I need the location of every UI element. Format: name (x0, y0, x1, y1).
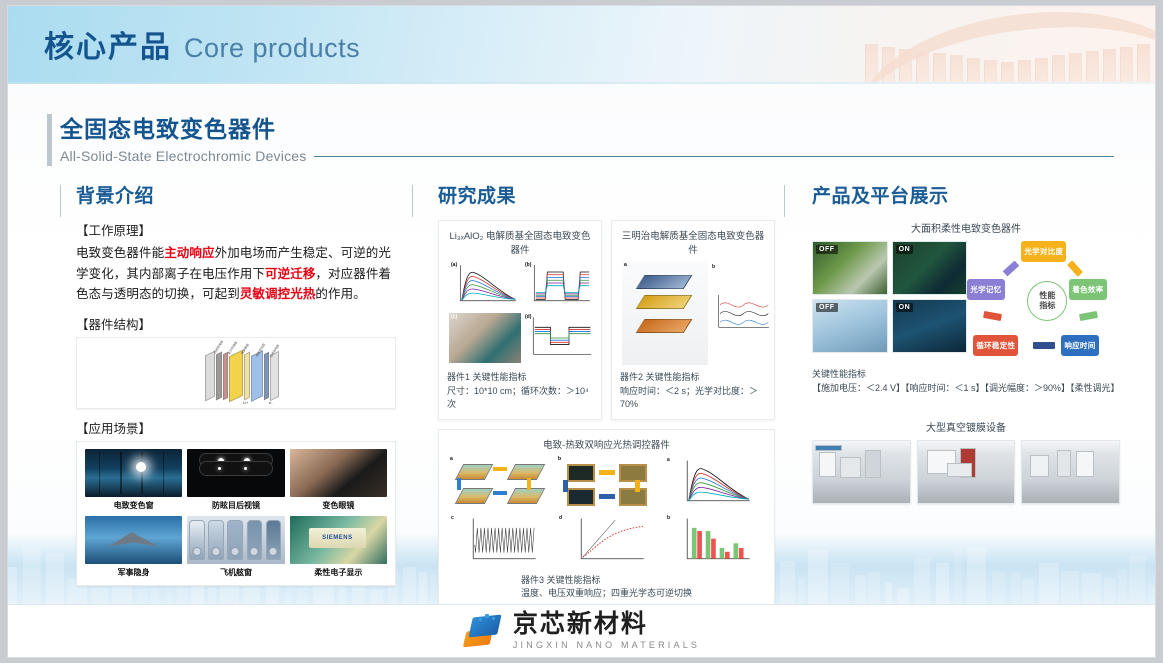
figure-subpanel-label: b (712, 264, 715, 270)
figure-subpanel-label: (b) (525, 262, 531, 268)
app-scenario-cell: 电致变色窗 (85, 449, 182, 511)
result-panel-3-title: 电致-热致双响应光热调控器件 (447, 437, 766, 451)
diagram-node-2: 光学记忆 (967, 279, 1004, 300)
result-panel-1-figure: (a)(b)(c)(d) (447, 261, 593, 365)
page-title: 核心产品 Core products (44, 22, 360, 66)
page-title-en: Core products (184, 33, 360, 64)
flex-display-card: SIEMENS (309, 528, 365, 547)
state-transition-arrow (599, 494, 615, 499)
equipment-machine (1076, 451, 1093, 477)
device-layer (244, 351, 250, 400)
state-node (507, 488, 546, 504)
mirror-thumb (187, 449, 284, 497)
column-title-background: 背景介绍 (60, 181, 412, 208)
principle-text-4: 的作用。 (315, 287, 365, 301)
window-mullion (141, 452, 143, 494)
state-transition-arrow (635, 480, 640, 492)
porthole-shade (189, 520, 205, 560)
device-photo-state (567, 464, 595, 482)
flexible-display-thumb: SIEMENS (290, 516, 387, 564)
onoff-photo-grid: OFF ON OFF ON (812, 241, 967, 353)
results-top-row: Li₃ₓAlO₂ 电解质基全固态电致变色器件 (a)(b)(c)(d) 器件1 … (438, 220, 784, 420)
device-layer (251, 350, 263, 402)
device-layer (216, 351, 222, 400)
onoff-tag-1: OFF (816, 245, 838, 254)
app-scenario-cell: 防眩目后视镜 (187, 449, 284, 511)
slide-canvas: 核心产品 Core products 全固态电致变色器件 All-Solid-S… (8, 6, 1155, 657)
app-scenario-caption: 电致变色窗 (85, 500, 182, 511)
app-scenario-cell: 飞机舷窗 (187, 516, 284, 578)
diagram-arrow-3 (1079, 311, 1098, 321)
result-panel-1-kpi-text: 尺寸：10*10 cm；循环次数：＞10⁴次 (447, 385, 593, 412)
equipment-machine (819, 452, 836, 477)
principle-highlight-2: 可逆迁移 (265, 267, 315, 281)
page-title-cn: 核心产品 (44, 22, 172, 66)
figure-subpanel: a (665, 456, 765, 510)
principle-highlight-3: 灵敏调控光热 (240, 287, 316, 301)
result-panel-2-kpi-text: 响应时间：＜2 s；光学对比度：＞70% (620, 385, 766, 412)
equipment-machine (840, 457, 861, 478)
result-panel-2: 三明治电解质基全固态电致变色器件 ab 器件2 关键性能指标 响应时间：＜2 s… (611, 220, 775, 420)
watermark-building (370, 590, 383, 605)
window-mullion (120, 452, 122, 494)
result-panel-1-title: Li₃ₓAlO₂ 电解质基全固态电致变色器件 (447, 228, 593, 256)
equipment-machine (1057, 450, 1071, 477)
onoff-tag-4: ON (896, 303, 914, 312)
figure-subpanel-label: a (450, 456, 453, 462)
equipment-photo-3 (1021, 440, 1120, 504)
state-transition-arrow (493, 491, 507, 495)
app-scenario-caption: 柔性电子显示 (290, 567, 387, 578)
device-photo-state (619, 488, 647, 506)
app-scenario-cell: 军事隐身 (85, 516, 182, 578)
device-photo-cycle: b (557, 456, 661, 512)
onoff-photo-3: OFF (812, 299, 888, 353)
porthole-shade (247, 520, 263, 560)
principle-label: 【工作原理】 (76, 220, 396, 239)
equipment-photo-2 (917, 440, 1016, 504)
watermark-building (8, 567, 17, 605)
schematic-layer (636, 295, 693, 309)
brand-name-en: JINGXIN NANO MATERIALS (513, 640, 700, 650)
result-panel-1-kpi: 器件1 关键性能指标 尺寸：10*10 cm；循环次数：＞10⁴次 (447, 371, 593, 412)
brand-name-cn: 京芯新材料 (513, 612, 700, 637)
onoff-photo-4: ON (892, 299, 968, 353)
window-sun (136, 462, 146, 472)
brand-text: 京芯新材料 JINGXIN NANO MATERIALS (513, 612, 700, 650)
app-scenario-cell: 变色眼镜 (290, 449, 387, 511)
schematic-layer (636, 319, 693, 333)
column-title-results: 研究成果 (438, 181, 784, 208)
device-stack-diagram: 透明导电层离子存储层电解质层电致变色层透明导电层Li+e- (205, 343, 345, 405)
principle-paragraph: 电致变色器件能主动响应外加电场而产生稳定、可逆的光学变化，其内部离子在电压作用下… (76, 243, 396, 305)
column-title-products: 产品及平台展示 (812, 181, 1120, 208)
device-structure-figure: 透明导电层离子存储层电解质层电致变色层透明导电层Li+e- (76, 337, 396, 409)
figure-subpanel-label: (d) (525, 314, 531, 320)
equipment-caption: 大型真空镀膜设备 (812, 419, 1120, 434)
result-panel-3-kpi-text: 温度、电压双重响应；四重光学态可逆切换 (521, 587, 692, 601)
figure-subpanel: c (449, 514, 553, 568)
diagram-arrow-5 (1033, 342, 1055, 349)
figure-subpanel: d (557, 514, 661, 568)
products-kpi-text: 【施加电压：＜2.4 V】【响应时间：＜1 s】【调光幅度：＞90%】【柔性调光… (812, 382, 1120, 396)
porthole-knob (193, 547, 202, 556)
device-layer (229, 349, 243, 402)
schematic-layer (636, 275, 693, 289)
structure-label: 【器件结构】 (76, 314, 396, 333)
porthole-knob (250, 547, 259, 556)
figure-subpanel-label: (a) (451, 262, 457, 268)
diagram-node-5: 响应时间 (1061, 335, 1098, 356)
figure-subpanel: (a) (449, 261, 521, 309)
porthole-shade (266, 520, 282, 560)
equipment-machine (815, 445, 842, 451)
state-transition-arrow (527, 478, 531, 490)
app-scenario-caption: 变色眼镜 (290, 500, 387, 511)
diagram-arrow-4 (983, 311, 1002, 321)
figure-subpanel: b (710, 263, 772, 363)
diagram-center-line2: 指标 (1039, 301, 1055, 311)
scenario-label: 【应用场景】 (76, 418, 396, 437)
section-heading: 全固态电致变色器件 All-Solid-State Electrochromic… (60, 110, 1114, 164)
result-panel-2-title: 三明治电解质基全固态电致变色器件 (620, 228, 766, 256)
diagram-node-1: 光学对比度 (1021, 241, 1066, 262)
apps-grid: 电致变色窗防眩目后视镜变色眼镜军事隐身飞机舷窗SIEMENS柔性电子显示 (85, 449, 387, 578)
diagram-center-line1: 性能 (1039, 291, 1055, 301)
application-scenarios-grid: 电致变色窗防眩目后视镜变色眼镜军事隐身飞机舷窗SIEMENS柔性电子显示 (76, 441, 396, 586)
window-thumb (85, 449, 182, 497)
porthole-knob (269, 547, 278, 556)
mirror-glare-dot (244, 467, 247, 470)
column-divider (784, 185, 785, 217)
figure-subpanel: (b) (523, 261, 595, 309)
state-transition-arrow (599, 470, 615, 475)
device-layer (264, 352, 269, 400)
result-panel-3-kpi: 器件3 关键性能指标 温度、电压双重响应；四重光学态可逆切换 (447, 574, 766, 601)
column-results: 研究成果 Li₃ₓAlO₂ 电解质基全固态电致变色器件 (a)(b)(c)(d)… (412, 181, 784, 591)
watermark-building (1149, 584, 1155, 605)
app-scenario-caption: 军事隐身 (85, 567, 182, 578)
onoff-tag-3: OFF (816, 303, 838, 312)
diagram-arrow-1 (1003, 261, 1020, 277)
result-panel-3-figure: abacdb (447, 456, 766, 568)
equipment-machine (947, 463, 972, 477)
footer-brand: 京芯新材料 JINGXIN NANO MATERIALS (8, 605, 1155, 657)
section-title-en: All-Solid-State Electrochromic Devices (60, 148, 1114, 164)
products-kpi: 关键性能指标 【施加电压：＜2.4 V】【响应时间：＜1 s】【调光幅度：＞90… (812, 368, 1120, 395)
device-photo-state (619, 464, 647, 482)
device-axis-label: Li+ (243, 400, 248, 405)
logo-pixel-2 (492, 617, 495, 620)
equipment-photo-grid (812, 440, 1120, 504)
device-schematic-subpanel: a (622, 261, 708, 365)
porthole-knob (231, 547, 240, 556)
column-divider (412, 185, 413, 217)
result-panel-1-kpi-title: 器件1 关键性能指标 (447, 371, 593, 385)
equipment-photo-1 (812, 440, 911, 504)
glasses-thumb (290, 449, 387, 497)
performance-metrics-diagram: 性能 指标 光学对比度光学记忆着色效率循环稳定性响应时间 (981, 241, 1120, 359)
section-title-cn: 全固态电致变色器件 (60, 110, 1114, 144)
figure-photo-subpanel: (c) (449, 313, 521, 363)
section-accent-bar (47, 114, 52, 166)
result-panel-1: Li₃ₓAlO₂ 电解质基全固态电致变色器件 (a)(b)(c)(d) 器件1 … (438, 220, 602, 420)
mirror-panel (199, 461, 273, 475)
figure-subpanel-label: b (558, 456, 561, 462)
result-panel-3-kpi-title: 器件3 关键性能指标 (521, 574, 692, 588)
onoff-tag-2: ON (896, 245, 914, 254)
onoff-photo-1: OFF (812, 241, 888, 295)
onoff-photo-2: ON (892, 241, 968, 295)
diagram-node-4: 循环稳定性 (973, 335, 1018, 356)
jingxin-logo-icon (463, 614, 503, 648)
products-kpi-title: 关键性能指标 (812, 368, 1120, 382)
porthole-shade (227, 520, 243, 560)
stealth-aircraft-thumb (85, 516, 182, 564)
diagram-center-node: 性能 指标 (1027, 281, 1067, 321)
state-transition-arrow (493, 467, 507, 471)
device-photo-state (567, 488, 595, 506)
state-cycle-schematic: a (449, 456, 553, 512)
porthole-thumb (187, 516, 284, 564)
figure-subpanel-label: b (667, 515, 670, 521)
window-mullion (163, 452, 165, 494)
state-node (455, 488, 494, 504)
state-transition-arrow (457, 478, 461, 490)
app-scenario-cell: SIEMENS柔性电子显示 (290, 516, 387, 578)
figure-subpanel-label: d (559, 515, 562, 521)
section-rule (314, 156, 1114, 157)
column-background: 背景介绍 【工作原理】 电致变色器件能主动响应外加电场而产生稳定、可逆的光学变化… (60, 181, 412, 591)
stealth-jet-silhouette (108, 532, 159, 546)
logo-pixel-1 (485, 614, 489, 618)
equipment-machine (1030, 455, 1049, 477)
principle-highlight-1: 主动响应 (164, 246, 214, 260)
result-panel-3: 电致-热致双响应光热调控器件 abacdb 器件3 关键性能指标 温度、电压双重… (438, 429, 775, 609)
window-mullion (99, 452, 101, 494)
figure-subpanel-label: (c) (451, 314, 457, 320)
app-scenario-caption: 飞机舷窗 (187, 567, 284, 578)
equipment-machine (865, 450, 880, 479)
state-transition-arrow (563, 480, 568, 492)
principle-text-1: 电致变色器件能 (76, 246, 164, 260)
column-divider (60, 185, 61, 217)
device-layer (223, 352, 228, 400)
figure-subpanel-label: a (624, 262, 627, 268)
result-panel-2-kpi-title: 器件2 关键性能指标 (620, 371, 766, 385)
device-layer (205, 350, 215, 401)
result-panel-2-kpi: 器件2 关键性能指标 响应时间：＜2 s；光学对比度：＞70% (620, 371, 766, 412)
watermark-building (1129, 556, 1145, 605)
porthole-knob (212, 547, 221, 556)
flexible-device-caption: 大面积柔性电致变色器件 (812, 220, 1120, 235)
figure-subpanel: b (665, 514, 765, 568)
section-title-en-text: All-Solid-State Electrochromic Devices (60, 148, 306, 164)
column-products: 产品及平台展示 大面积柔性电致变色器件 OFF ON OFF ON (784, 181, 1120, 591)
figure-subpanel-label: a (667, 457, 670, 463)
result-panel-2-figure: ab (620, 261, 766, 365)
state-node (507, 464, 546, 480)
logo-blue-sheet (468, 615, 501, 638)
app-scenario-caption: 防眩目后视镜 (187, 500, 284, 511)
watermark-building (23, 547, 41, 605)
logo-pixel-3 (479, 618, 482, 621)
porthole-shade (208, 520, 224, 560)
figure-subpanel-label: c (451, 515, 454, 521)
device-axis-label: e- (269, 400, 273, 405)
diagram-arrow-2 (1067, 260, 1083, 277)
content-columns: 背景介绍 【工作原理】 电致变色器件能主动响应外加电场而产生稳定、可逆的光学变化… (60, 181, 1120, 591)
diagram-node-3: 着色效率 (1069, 279, 1106, 300)
equipment-ceiling (1022, 441, 1119, 452)
figure-subpanel: (d) (523, 313, 595, 363)
